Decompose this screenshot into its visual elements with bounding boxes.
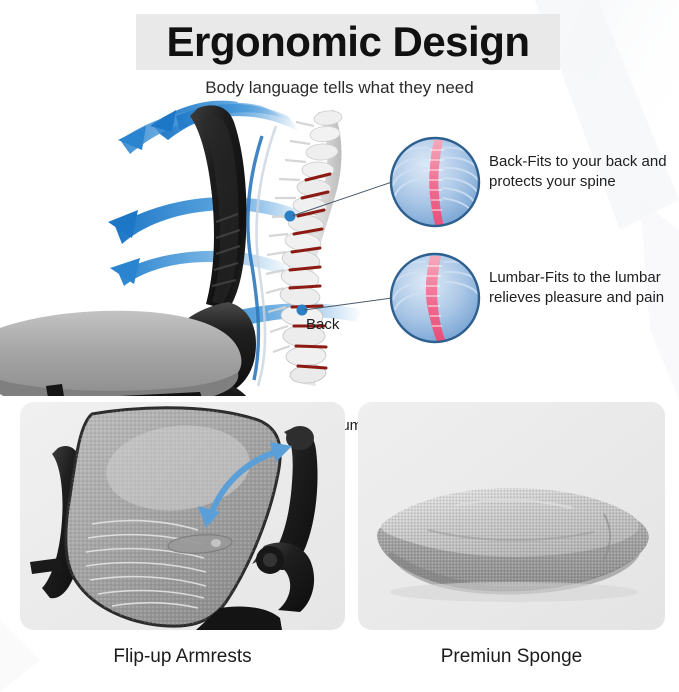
callout-lumbar: Lumbar-Fits to the lumbar relieves pleas… [489, 268, 679, 308]
page-title: Ergonomic Design [136, 14, 560, 70]
callout-back-line2: protects your spine [489, 172, 679, 192]
spine-label-back: Back [306, 316, 339, 333]
panel-flip-up-armrests [20, 402, 345, 630]
callout-back: Back-Fits to your back and protects your… [489, 152, 679, 192]
callout-lumbar-line1: Lumbar-Fits to the lumbar [489, 268, 679, 288]
caption-premiun-sponge: Premiun Sponge [358, 646, 665, 668]
callout-back-line1: Back-Fits to your back and [489, 152, 679, 172]
infographic-root: Ergonomic Design Body language tells wha… [0, 0, 679, 692]
callout-lumbar-line2: relieves pleasure and pain [489, 288, 679, 308]
medical-circle-lumbar [391, 254, 500, 356]
panel-premiun-sponge [358, 402, 665, 630]
flip-up-armrests-image [20, 402, 345, 630]
medical-circle-back [391, 138, 500, 228]
premiun-sponge-image [358, 402, 665, 630]
caption-flip-up-armrests: Flip-up Armrests [20, 646, 345, 668]
page-subtitle: Body language tells what they need [0, 78, 679, 98]
spine-illustration [266, 110, 343, 386]
top-illustration-svg [0, 96, 679, 396]
top-illustration: Back Lumbar [0, 96, 679, 396]
spine-marker-back [285, 211, 296, 222]
